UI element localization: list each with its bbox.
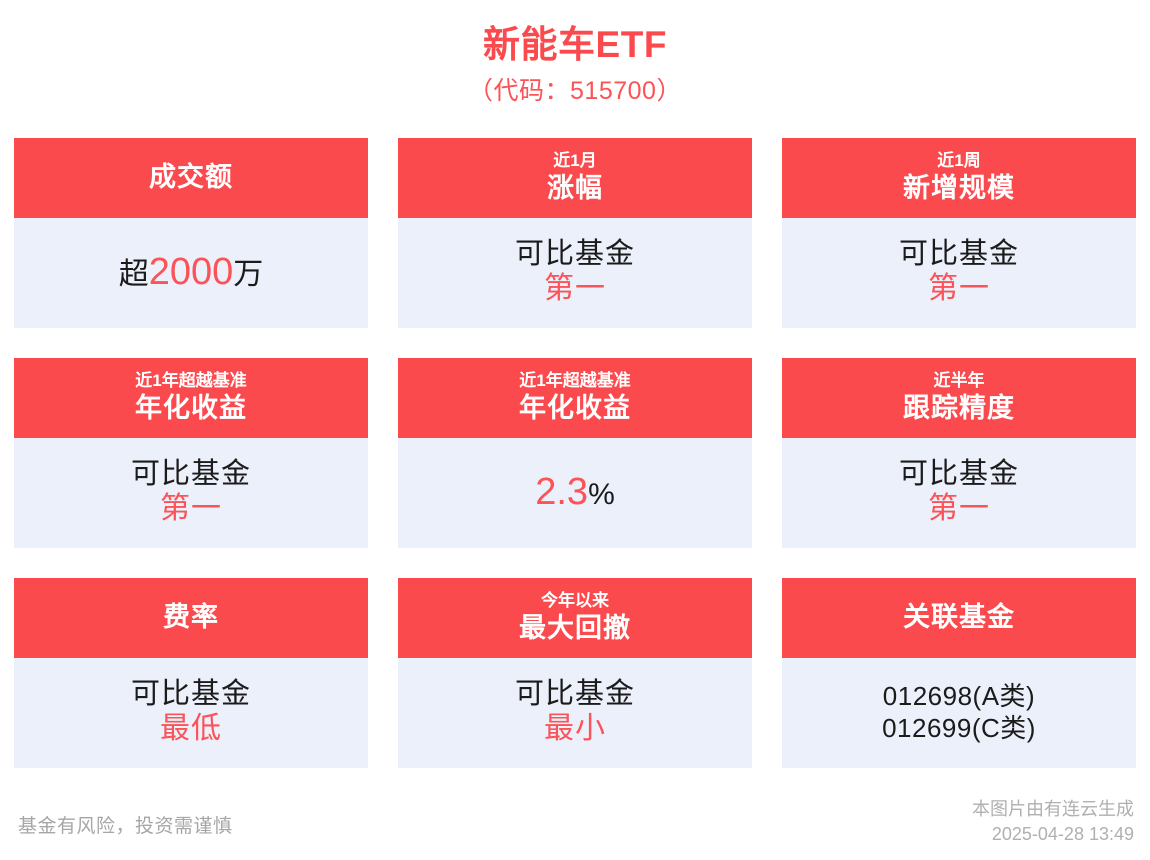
metric-card[interactable]: 成交额 超2000万 [14,138,368,328]
metric-card[interactable]: 近1月 涨幅 可比基金 第一 [398,138,752,328]
card-header-title: 年化收益 [519,393,631,425]
card-header-title: 涨幅 [547,173,603,205]
metric-card[interactable]: 近1年超越基准 年化收益 可比基金 第一 [14,358,368,548]
card-header: 成交额 [14,138,368,218]
card-header-sublabel: 近1周 [937,151,980,171]
card-value-line1: 可比基金 [131,679,251,711]
related-fund-code-a: 012698(A类) [883,681,1035,713]
card-value-line2: 第一 [160,492,222,527]
card-body: 超2000万 [14,218,368,328]
metric-card[interactable]: 近1周 新增规模 可比基金 第一 [782,138,1136,328]
value-accent: 2000 [149,251,234,293]
metric-card[interactable]: 近1年超越基准 年化收益 2.3% [398,358,752,548]
metric-card[interactable]: 今年以来 最大回撤 可比基金 最小 [398,578,752,768]
metric-card[interactable]: 关联基金 012698(A类) 012699(C类) [782,578,1136,768]
card-header-title: 年化收益 [135,393,247,425]
card-body: 可比基金 最小 [398,658,752,768]
card-body: 012698(A类) 012699(C类) [782,658,1136,768]
card-header-sublabel: 近1月 [553,151,596,171]
card-value-line2: 第一 [928,272,990,307]
card-body: 2.3% [398,438,752,548]
card-value-line2: 第一 [544,272,606,307]
card-header: 近半年 跟踪精度 [782,358,1136,438]
card-header-title: 最大回撤 [519,613,631,645]
card-header: 近1年超越基准 年化收益 [398,358,752,438]
card-value-single: 超2000万 [119,252,264,294]
footer-meta: 本图片由有连云生成 2025-04-28 13:49 [972,797,1134,846]
card-header-sublabel: 近1年超越基准 [135,371,246,391]
value-prefix: 超 [119,258,149,291]
card-header-sublabel: 近半年 [934,371,985,391]
card-header: 近1周 新增规模 [782,138,1136,218]
card-body: 可比基金 第一 [14,438,368,548]
card-header-sublabel: 近1年超越基准 [519,371,630,391]
card-header: 费率 [14,578,368,658]
card-header-title: 关联基金 [903,602,1015,634]
generated-timestamp: 2025-04-28 13:49 [972,822,1134,846]
card-value-line1: 可比基金 [899,239,1019,271]
card-value-line2: 第一 [928,492,990,527]
related-fund-code-c: 012699(C类) [882,713,1036,745]
card-value-line1: 可比基金 [899,459,1019,491]
card-header: 关联基金 [782,578,1136,658]
card-body: 可比基金 最低 [14,658,368,768]
card-header-sublabel: 今年以来 [541,591,609,611]
card-value-line1: 可比基金 [515,679,635,711]
card-header: 近1月 涨幅 [398,138,752,218]
page-header: 新能车ETF （代码：515700） [0,0,1150,109]
card-header-title: 成交额 [149,162,233,194]
card-header-title: 新增规模 [903,173,1015,205]
value-suffix: 万 [233,258,263,291]
page-subtitle-code: （代码：515700） [0,75,1150,109]
card-body: 可比基金 第一 [398,218,752,328]
card-header-title: 费率 [163,602,219,634]
metric-card[interactable]: 费率 可比基金 最低 [14,578,368,768]
card-body: 可比基金 第一 [782,218,1136,328]
card-body: 可比基金 第一 [782,438,1136,548]
page-title: 新能车ETF [0,22,1150,68]
card-value-line2: 最低 [160,712,222,747]
card-header-title: 跟踪精度 [903,393,1015,425]
card-value-line2: 最小 [544,712,606,747]
risk-notice: 基金有风险，投资需谨慎 [18,811,233,838]
metric-card-grid: 成交额 超2000万 近1月 涨幅 可比基金 第一 近1周 新增规模 可比基金 … [14,138,1136,768]
value-suffix: % [588,478,615,511]
value-accent: 2.3 [535,471,588,513]
card-value-line1: 可比基金 [131,459,251,491]
metric-card[interactable]: 近半年 跟踪精度 可比基金 第一 [782,358,1136,548]
card-header: 今年以来 最大回撤 [398,578,752,658]
image-source-label: 本图片由有连云生成 [972,797,1134,821]
card-header: 近1年超越基准 年化收益 [14,358,368,438]
card-value-line1: 可比基金 [515,239,635,271]
card-value-single: 2.3% [535,472,615,514]
